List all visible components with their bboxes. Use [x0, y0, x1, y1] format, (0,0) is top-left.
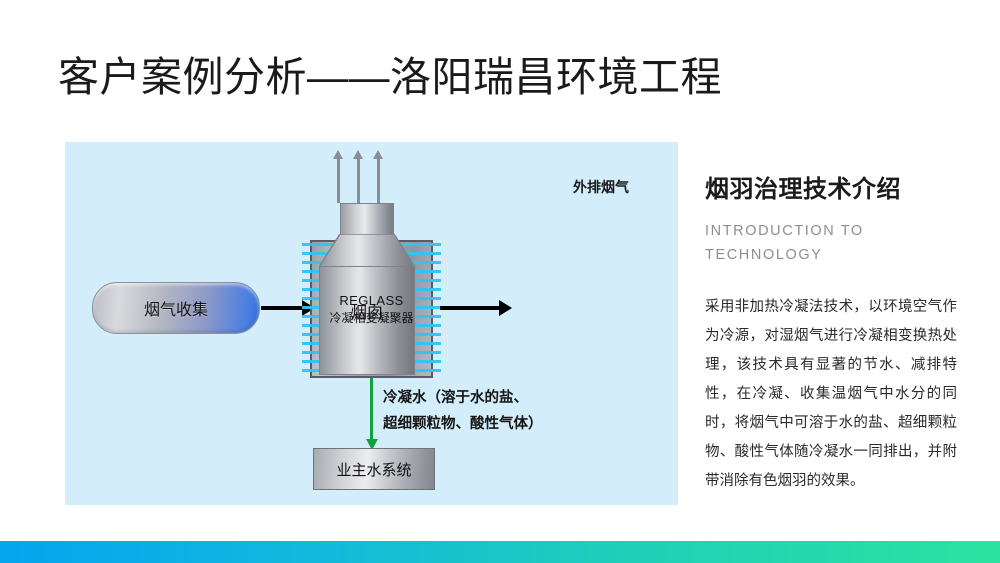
- exhaust-arrow-icon: [377, 158, 380, 203]
- condensate-arrow-icon: [370, 378, 373, 440]
- footer-gradient-bar: [0, 541, 1000, 563]
- exhaust-label: 外排烟气: [573, 177, 629, 197]
- exhaust-arrow-icon: [337, 158, 340, 203]
- process-diagram-panel: 烟气收集 REGLASS 冷凝相变凝聚器 外排烟气 烟囱 冷凝水（溶于水的盐、 …: [65, 142, 678, 505]
- technology-intro-column: 烟羽治理技术介绍 INTRODUCTION TO TECHNOLOGY 采用非加…: [705, 175, 957, 496]
- exhaust-arrow-icon: [357, 158, 360, 203]
- condensate-label-block: 冷凝水（溶于水的盐、 超细颗粒物、酸性气体）: [383, 385, 543, 437]
- technology-subheading: INTRODUCTION TO TECHNOLOGY: [705, 219, 957, 267]
- flow-arrow-condenser-to-stack-icon: [440, 306, 500, 310]
- page-title: 客户案例分析——洛阳瑞昌环境工程: [58, 43, 722, 103]
- condensate-label-line1: 冷凝水（溶于水的盐、: [383, 385, 543, 411]
- gas-collection-label: 烟气收集: [144, 296, 208, 320]
- technology-heading: 烟羽治理技术介绍: [705, 175, 957, 205]
- owner-water-system-box: 业主水系统: [313, 448, 435, 490]
- stack-neck: [340, 203, 394, 235]
- technology-body-text: 采用非加热冷凝法技术，以环境空气作为冷源，对湿烟气进行冷凝相变换热处理，该技术具…: [705, 293, 957, 496]
- condensate-label-line2: 超细颗粒物、酸性气体）: [383, 411, 543, 437]
- exhaust-arrows-group: [297, 150, 449, 203]
- stack-taper-outline-icon: [319, 234, 415, 267]
- owner-water-system-label: 业主水系统: [336, 459, 411, 480]
- gas-collection-vessel: 烟气收集: [92, 282, 260, 334]
- stack-label: 烟囱: [319, 299, 415, 323]
